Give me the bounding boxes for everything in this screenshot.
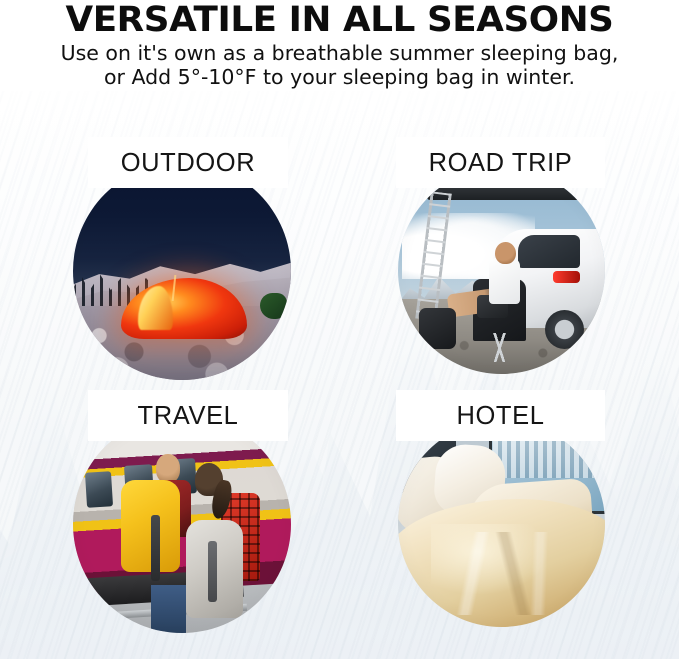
photo-circle-hotel — [398, 420, 605, 627]
subtitle-line-2: or Add 5°-10°F to your sleeping bag in w… — [0, 65, 679, 89]
label-text-outdoor: OUTDOOR — [121, 150, 256, 176]
page-subtitle: Use on it's own as a breathable summer s… — [0, 38, 679, 89]
person-head — [495, 242, 516, 265]
traveler-man-head — [156, 454, 180, 482]
person-torso — [489, 258, 520, 304]
label-text-hotel: HOTEL — [456, 403, 544, 429]
use-case-grid: OUTDOOR — [0, 0, 679, 659]
camp-chair-legs — [477, 333, 523, 362]
grey-backpack-strap — [208, 541, 217, 602]
label-box-road-trip: ROAD TRIP — [396, 137, 605, 188]
gear-bag — [419, 308, 456, 349]
hotel-bed-photo — [398, 420, 605, 627]
traveler-man-jeans — [151, 585, 186, 633]
hotel-city-view — [493, 441, 605, 478]
label-box-hotel: HOTEL — [396, 390, 605, 441]
photo-circle-road-trip — [398, 167, 605, 374]
car-window — [518, 235, 580, 268]
yellow-backpack — [121, 480, 180, 572]
bed-duvet-folds — [419, 532, 585, 615]
car-taillight — [553, 271, 580, 283]
road-trip-photo — [398, 167, 605, 374]
header-block: VERSATILE IN ALL SEASONS Use on it's own… — [0, 0, 679, 91]
label-text-road-trip: ROAD TRIP — [429, 150, 573, 176]
versatile-in-all-seasons-poster: VERSATILE IN ALL SEASONS Use on it's own… — [0, 0, 679, 659]
yellow-backpack-strap — [151, 515, 160, 580]
label-box-outdoor: OUTDOOR — [88, 137, 288, 188]
tent-night-photo — [73, 162, 291, 380]
subtitle-line-1: Use on it's own as a breathable summer s… — [61, 41, 619, 65]
page-title: VERSATILE IN ALL SEASONS — [0, 0, 679, 38]
label-box-travel: TRAVEL — [88, 390, 288, 441]
photo-circle-outdoor — [73, 162, 291, 380]
photo-circle-travel — [73, 415, 291, 633]
train-travel-photo — [73, 415, 291, 633]
label-text-travel: TRAVEL — [138, 403, 239, 429]
tent-green-bush — [260, 293, 286, 319]
train-window-1 — [85, 471, 113, 507]
